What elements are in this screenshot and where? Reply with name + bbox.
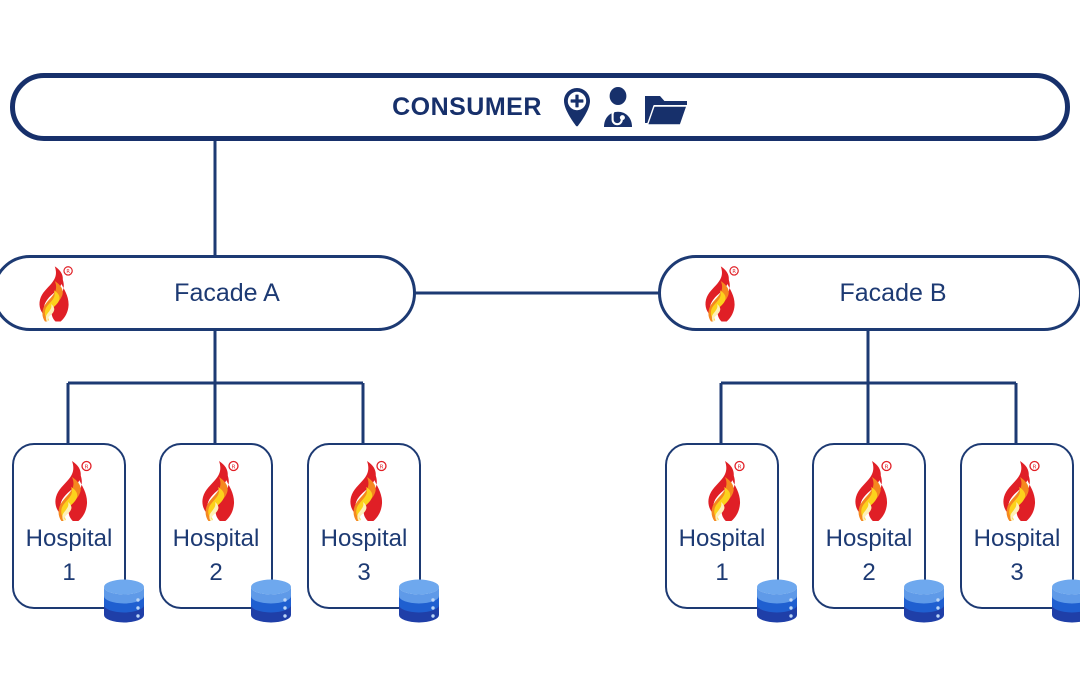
database-icon <box>102 577 146 625</box>
hospital-box[interactable]: Hospital 1 <box>665 443 779 609</box>
hospital-label: Hospital <box>974 525 1061 553</box>
diagram-canvas: R CONSUMER <box>0 0 1080 675</box>
doctor-icon <box>601 87 635 127</box>
hospital-number: 1 <box>62 561 75 585</box>
fhir-flame-icon <box>843 459 895 521</box>
fhir-flame-icon <box>991 459 1043 521</box>
consumer-label: CONSUMER <box>392 93 542 122</box>
hospital-number: 3 <box>357 561 370 585</box>
hospital-label: Hospital <box>321 525 408 553</box>
hospital-label: Hospital <box>826 525 913 553</box>
database-icon <box>249 577 293 625</box>
facade-b-label: Facade B <box>741 279 1045 308</box>
fhir-flame-icon <box>338 459 390 521</box>
facade-a-label: Facade A <box>75 279 379 308</box>
hospital-number: 1 <box>715 561 728 585</box>
hospital-label: Hospital <box>26 525 113 553</box>
facade-b-box[interactable]: Facade B <box>658 255 1080 331</box>
consumer-box[interactable]: CONSUMER <box>10 73 1070 141</box>
hospital-label: Hospital <box>173 525 260 553</box>
hospital-number: 2 <box>209 561 222 585</box>
fhir-flame-icon <box>190 459 242 521</box>
hospital-box[interactable]: Hospital 2 <box>159 443 273 609</box>
fhir-flame-icon <box>695 264 741 322</box>
hospital-number: 3 <box>1010 561 1023 585</box>
database-icon <box>755 577 799 625</box>
consumer-icon-group <box>562 87 688 127</box>
fhir-flame-icon <box>696 459 748 521</box>
hospital-number: 2 <box>862 561 875 585</box>
database-icon <box>902 577 946 625</box>
fhir-flame-icon <box>43 459 95 521</box>
hospital-box[interactable]: Hospital 3 <box>307 443 421 609</box>
database-icon <box>397 577 441 625</box>
map-pin-plus-icon <box>562 87 592 127</box>
facade-a-box[interactable]: Facade A <box>0 255 416 331</box>
hospital-box[interactable]: Hospital 1 <box>12 443 126 609</box>
hospital-label: Hospital <box>679 525 766 553</box>
hospital-box[interactable]: Hospital 2 <box>812 443 926 609</box>
database-icon <box>1050 577 1080 625</box>
hospital-box[interactable]: Hospital 3 <box>960 443 1074 609</box>
folder-icon <box>644 93 688 127</box>
fhir-flame-icon <box>29 264 75 322</box>
